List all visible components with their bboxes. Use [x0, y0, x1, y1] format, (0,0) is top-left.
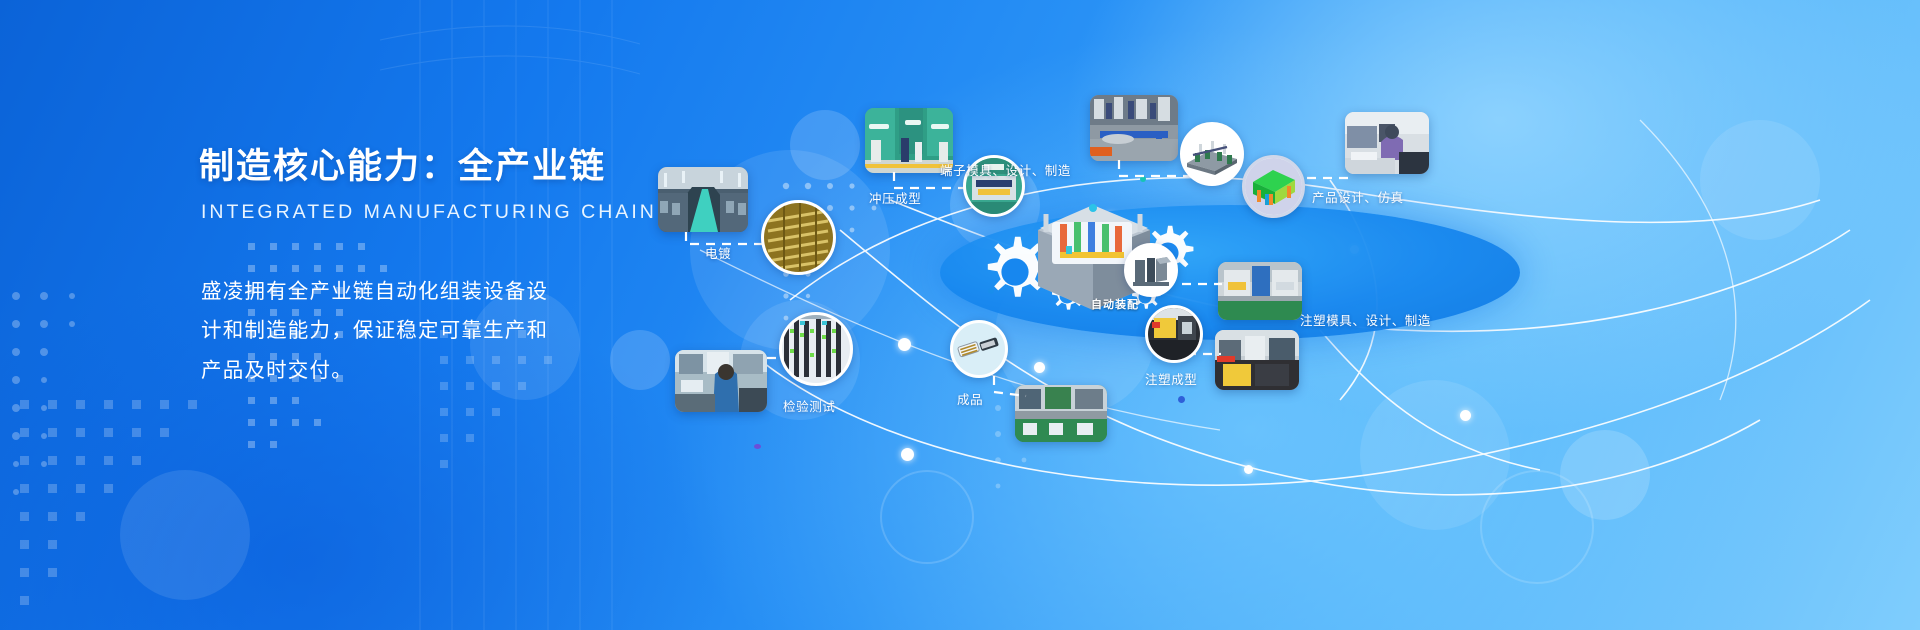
thumbnail-jianyan[interactable] — [675, 350, 767, 412]
manufacturing-chain-diagram: 自动装配 电镀 — [640, 0, 1920, 630]
node-label-chengpin: 成品 — [957, 389, 983, 408]
banner-stage: 制造核心能力：全产业链 INTEGRATED MANUFACTURING CHA… — [0, 0, 1920, 630]
copy-block: 制造核心能力：全产业链 INTEGRATED MANUFACTURING CHA… — [199, 146, 619, 390]
node-label-zhusu: 注塑成型 — [1145, 369, 1197, 388]
icon-node-mold-tool[interactable] — [1124, 243, 1178, 297]
node-label-chongya: 冲压成型 — [869, 188, 921, 207]
thumbnail-duanzi[interactable] — [1090, 95, 1178, 161]
sparkle-purple — [754, 444, 761, 449]
icon-node-gold-mesh[interactable] — [761, 200, 836, 275]
orbit-node-dot — [1244, 465, 1253, 474]
icon-node-probe-rack[interactable] — [779, 312, 853, 386]
thumbnail-zhusumuju[interactable] — [1218, 262, 1302, 320]
body-line-1: 盛凌拥有全产业链自动化组装设备设 — [201, 272, 553, 311]
dot-halftone-far-left — [10, 290, 90, 520]
icon-node-connectors[interactable] — [950, 320, 1008, 378]
node-label-duanzi: 端子模具、设计、制造 — [940, 160, 1071, 179]
body-copy: 盛凌拥有全产业链自动化组装设备设 计和制造能力，保证稳定可靠生产和 产品及时交付… — [201, 272, 619, 390]
thumbnail-dianudu[interactable] — [658, 167, 748, 232]
hub-label: 自动装配 — [1091, 296, 1139, 312]
bokeh-circle — [120, 470, 250, 600]
body-line-3: 产品及时交付。 — [201, 351, 553, 390]
icon-node-molding-machine[interactable] — [1145, 305, 1203, 363]
node-label-dianudu: 电镀 — [705, 243, 731, 262]
thumbnail-chanpin[interactable] — [1345, 112, 1429, 174]
connector-dashed-chengpin — [990, 372, 1030, 400]
node-label-chanpin: 产品设计、仿真 — [1312, 187, 1404, 206]
square-halftone-bottom-left — [0, 400, 300, 630]
orbit-node-dot — [898, 338, 911, 351]
thumbnail-zhusu[interactable] — [1215, 330, 1299, 390]
node-label-zhusumuju: 注塑模具、设计、制造 — [1300, 310, 1431, 329]
connector-dashed-chanpin — [1305, 172, 1355, 184]
orbit-node-dot — [1460, 410, 1471, 421]
connector-dashed-zhusumuju — [1180, 278, 1226, 290]
orbit-node-dot — [901, 448, 914, 461]
page-title: 制造核心能力：全产业链 — [199, 146, 619, 188]
node-label-jianyan: 检验测试 — [783, 396, 835, 415]
sparkle-purple — [1178, 396, 1185, 403]
icon-node-product-3d[interactable] — [1242, 155, 1305, 218]
orbit-node-dot — [1034, 362, 1045, 373]
icon-node-mold-3d[interactable] — [1180, 122, 1244, 186]
body-line-2: 计和制造能力，保证稳定可靠生产和 — [201, 311, 553, 350]
page-subtitle: INTEGRATED MANUFACTURING CHAIN — [201, 201, 619, 224]
